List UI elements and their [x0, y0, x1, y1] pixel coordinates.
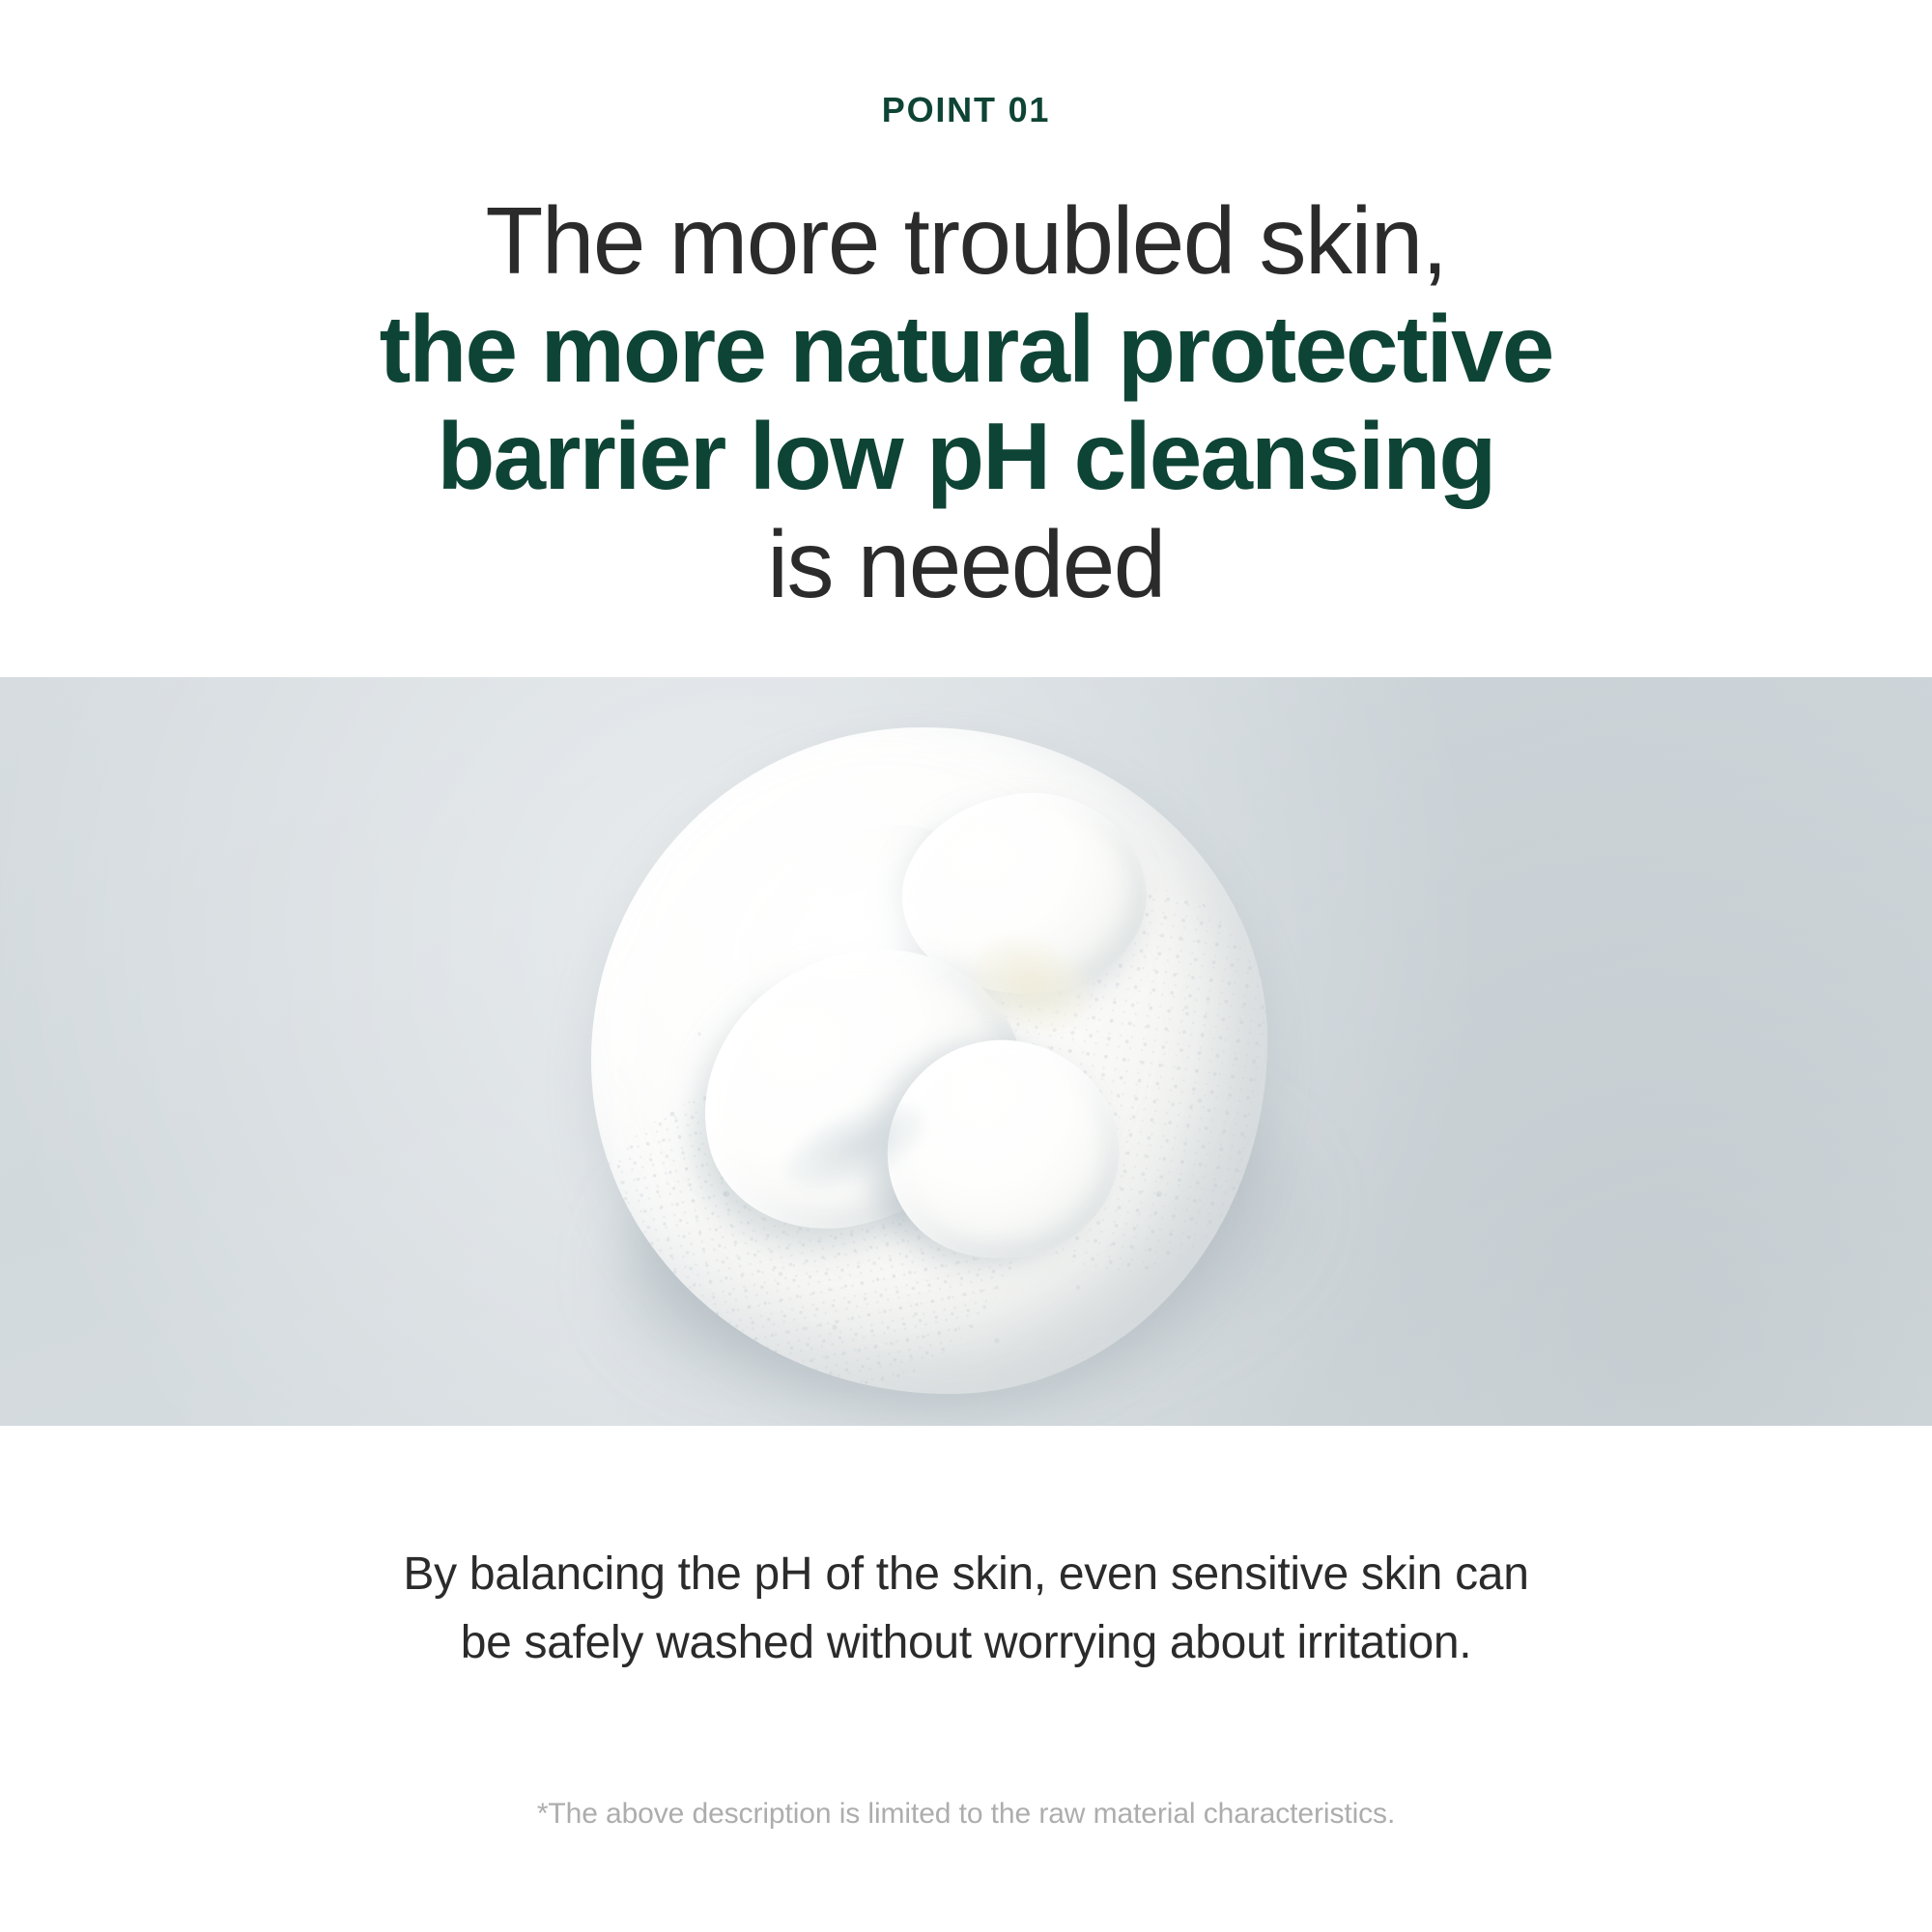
page-title: The more troubled skin, the more natural… — [0, 187, 1932, 619]
body-description-line-1: By balancing the pH of the skin, even se… — [0, 1540, 1932, 1608]
headline-line-1: The more troubled skin, — [0, 187, 1932, 296]
cleansing-foam-image — [591, 727, 1267, 1394]
headline-line-4: is needed — [0, 511, 1932, 619]
disclaimer-footnote: *The above description is limited to the… — [0, 1677, 1932, 1832]
body-description: By balancing the pH of the skin, even se… — [0, 1540, 1932, 1677]
headline-line-2: the more natural protective — [0, 296, 1932, 404]
headline-section: POINT 01 The more troubled skin, the mor… — [0, 0, 1932, 619]
headline-line-3: barrier low pH cleansing — [0, 403, 1932, 511]
body-description-line-2: be safely washed without worrying about … — [0, 1608, 1932, 1677]
point-label: POINT 01 — [0, 93, 1932, 128]
description-section: By balancing the pH of the skin, even se… — [0, 1426, 1932, 1832]
product-detail-page: POINT 01 The more troubled skin, the mor… — [0, 0, 1932, 1932]
product-image-band — [0, 677, 1932, 1426]
